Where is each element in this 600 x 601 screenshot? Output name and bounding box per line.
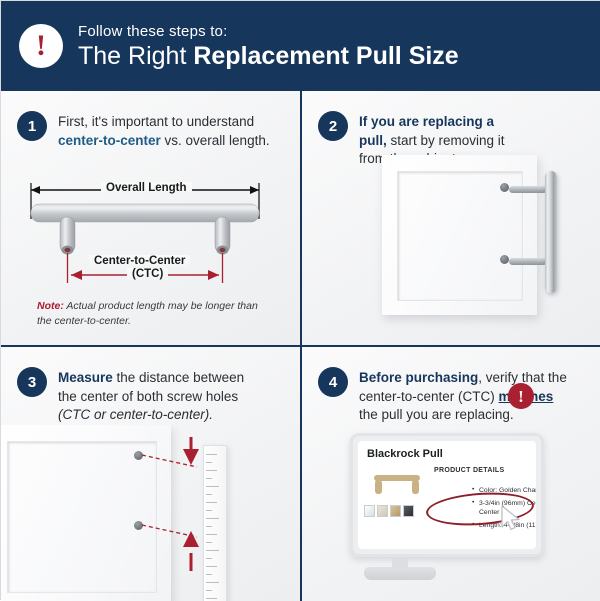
step-number-badge-1: 1	[17, 111, 47, 141]
color-swatches[interactable]	[364, 505, 414, 517]
title-bold-part: Replacement Pull Size	[193, 42, 458, 70]
monitor-screen: Blackrock Pull	[358, 441, 536, 549]
step-number-badge-4: 4	[318, 367, 348, 397]
swatch-1[interactable]	[364, 505, 375, 517]
header-banner: ! Follow these steps to: The Right Repla…	[1, 1, 600, 91]
step-3-emphasis: Measure	[58, 370, 113, 385]
screw-hole-top-2	[500, 183, 509, 192]
step-3-italic: (CTC or center-to-center).	[58, 407, 213, 422]
measure-overlay-svg	[1, 425, 300, 601]
swatch-4[interactable]	[403, 505, 414, 517]
screw-hole-bottom-2	[500, 255, 509, 264]
note-prefix: Note:	[37, 300, 64, 312]
monitor-stand-base	[364, 567, 436, 580]
step-1-text: First, it's important to understand cent…	[58, 113, 282, 150]
step-3-header: 3 Measure the distance between the cente…	[17, 369, 282, 425]
cabinet-door-illustration-2	[302, 151, 600, 345]
step-3-text: Measure the distance between the center …	[58, 369, 258, 425]
ruler	[203, 445, 227, 601]
product-image	[366, 468, 428, 502]
steps-grid: 1 First, it's important to understand ce…	[1, 91, 600, 601]
exclamation-glyph: !	[36, 31, 46, 61]
step-panel-4: 4 Before purchasing, verify that the cen…	[302, 347, 600, 601]
cabinet-door-illustration-3	[1, 425, 300, 601]
title-light-part: The Right	[78, 42, 193, 70]
monitor-frame: Blackrock Pull	[350, 433, 544, 557]
step-panel-1: 1 First, it's important to understand ce…	[1, 91, 300, 345]
step-4-header: 4 Before purchasing, verify that the cen…	[318, 369, 583, 425]
step-4-emphasis: Before purchasing	[359, 370, 478, 385]
mouse-pointer-icon	[500, 505, 522, 531]
step-1-line1: First, it's important to understand	[58, 114, 254, 129]
pull-post-top-2	[509, 186, 547, 193]
header-kicker: Follow these steps to:	[78, 23, 459, 40]
step-number-badge-3: 3	[17, 367, 47, 397]
alert-exclamation-icon: !	[508, 383, 534, 409]
step-1-emphasis: center-to-center	[58, 133, 161, 148]
note-body: Actual product length may be longer than…	[37, 300, 258, 327]
step-panel-3: 3 Measure the distance between the cente…	[1, 347, 300, 601]
step-1-note: Note: Actual product length may be longe…	[37, 299, 267, 329]
step-number-badge-2: 2	[318, 111, 348, 141]
swatch-2[interactable]	[377, 505, 388, 517]
bar-pull-diagram: Overall Length Center-to-Center (CTC)	[19, 177, 271, 287]
page-title: The Right Replacement Pull Size	[78, 43, 459, 70]
step-4-text: Before purchasing, verify that the cente…	[359, 369, 571, 425]
step-1-header: 1 First, it's important to understand ce…	[17, 113, 282, 150]
pull-post-bottom-2	[509, 258, 547, 265]
step-panel-2: 2 If you are replacing a pull, start by …	[302, 91, 600, 345]
infographic-root: ! Follow these steps to: The Right Repla…	[0, 0, 600, 600]
product-details-heading: PRODUCT DETAILS	[434, 467, 504, 474]
swatch-3[interactable]	[390, 505, 401, 517]
product-title: Blackrock Pull	[367, 448, 443, 460]
exclamation-icon: !	[19, 24, 63, 68]
overall-length-label: Overall Length	[101, 182, 192, 194]
ctc-label-line1: Center-to-Center	[89, 255, 190, 267]
step-1-line2: vs. overall length.	[161, 133, 270, 148]
header-text-block: Follow these steps to: The Right Replace…	[78, 23, 459, 70]
ctc-label-line2: (CTC)	[127, 268, 168, 280]
bar-pull-removed	[545, 171, 557, 293]
step-4-tail: the pull you are replacing.	[359, 407, 514, 422]
alert-exclamation-glyph: !	[518, 388, 524, 405]
